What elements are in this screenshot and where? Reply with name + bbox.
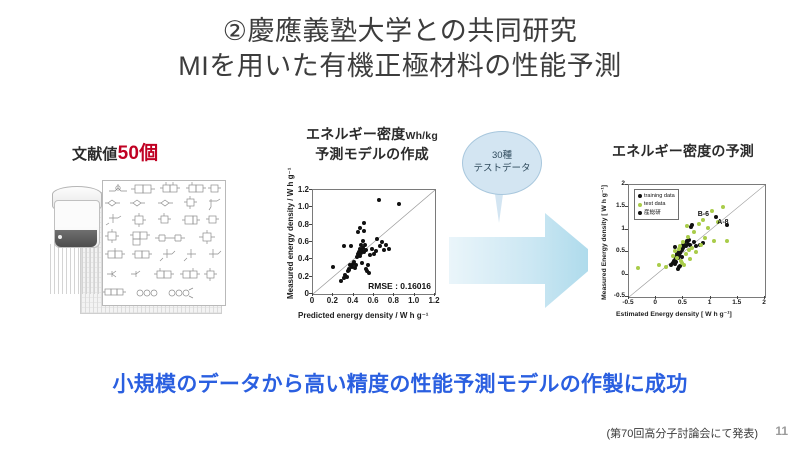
x-tick-mark (353, 293, 354, 296)
chartA-rmse-label: RMSE : 0.16016 (368, 281, 431, 291)
x-tick-mark (332, 293, 333, 296)
y-tick-mark (309, 293, 312, 294)
data-point (664, 265, 668, 269)
data-point (684, 252, 688, 256)
data-point (703, 236, 707, 240)
point-annotation: A-8 (717, 219, 728, 226)
y-tick-label: -0.5 (608, 292, 625, 299)
x-tick-mark (710, 296, 711, 299)
data-point (345, 275, 349, 279)
middle-caption-line-2: 予測モデルの作成 (282, 144, 462, 164)
data-point (686, 235, 690, 239)
molecule-structures-icon (103, 181, 225, 305)
point-annotation: B-6 (698, 211, 709, 218)
reagent-jar-icon (50, 186, 102, 294)
x-tick-mark (434, 293, 435, 296)
data-point (721, 205, 725, 209)
slide-root: ②慶應義塾大学との共同研究 MIを用いた有機正極材料の性能予測 文献値50個 (0, 0, 800, 450)
data-point (342, 244, 346, 248)
source-note: (第70回高分子討論会にて発表) (606, 425, 758, 441)
y-tick-mark (309, 258, 312, 259)
y-tick-mark (625, 251, 628, 252)
x-tick-mark (682, 296, 683, 299)
data-point (712, 239, 716, 243)
x-tick-label: 2 (757, 299, 771, 306)
legend-item-training: training data (638, 192, 675, 200)
y-tick-label: 1 (608, 225, 625, 232)
y-tick-mark (625, 274, 628, 275)
middle-caption-line-1: エネルギー密度Wh/kg (282, 124, 462, 144)
chartA-y-axis-title: Measured energy density / W h g⁻¹ (286, 168, 295, 299)
y-tick-mark (625, 296, 628, 297)
x-tick-label: 1.0 (407, 296, 421, 305)
right-panel-caption: エネルギー密度の予測 (588, 141, 778, 161)
data-point (671, 254, 675, 258)
y-tick-mark (309, 206, 312, 207)
data-point (349, 244, 353, 248)
y-tick-mark (309, 276, 312, 277)
x-tick-label: 1.2 (427, 296, 441, 305)
data-point (710, 209, 714, 213)
callout-line-1: 30種 (492, 150, 512, 163)
chartA-plot-area: RMSE : 0.16016 (312, 189, 436, 295)
data-point (362, 221, 366, 225)
chartA-x-axis-title: Predicted energy density / W h g⁻¹ (298, 311, 428, 320)
callout-bubble: 30種 テストデータ (462, 131, 542, 195)
data-point (374, 249, 378, 253)
legend-item-aist: 産総研 (638, 209, 675, 217)
data-point (382, 248, 386, 252)
y-tick-label: 1.5 (608, 202, 625, 209)
y-tick-mark (309, 224, 312, 225)
data-point (699, 243, 703, 247)
x-tick-label: -0.5 (621, 299, 635, 306)
data-point (701, 218, 705, 222)
title-line-2: MIを用いた有機正極材料の性能予測 (0, 49, 800, 84)
x-tick-mark (737, 296, 738, 299)
x-tick-mark (655, 296, 656, 299)
data-point (353, 266, 357, 270)
x-tick-label: 1.5 (730, 299, 744, 306)
legend-label-aist: 産総研 (644, 209, 661, 217)
legend-label-training: training data (644, 192, 675, 200)
left-caption-count: 50個 (118, 143, 159, 164)
data-point (685, 224, 689, 228)
chart-prediction-model: RMSE : 0.16016 00.20.40.60.81.01.2 00.20… (276, 183, 456, 331)
page-number: 11 (775, 424, 788, 438)
y-tick-label: 0.5 (608, 247, 625, 254)
conclusion-text: 小規模のデータから高い精度の性能予測モデルの作製に成功 (0, 368, 800, 398)
legend-swatch-test-icon (638, 203, 642, 207)
data-point (377, 198, 381, 202)
jar-shadow (50, 244, 102, 294)
middle-caption-unit: Wh/kg (405, 130, 438, 142)
chartB-x-axis-title: Estimated Energy density [ W h g⁻¹] (616, 310, 732, 318)
molecule-sheet-front (102, 180, 226, 306)
y-tick-mark (625, 206, 628, 207)
x-tick-mark (373, 293, 374, 296)
chartA-identity-line (313, 190, 435, 294)
x-tick-label: 0.5 (675, 299, 689, 306)
y-tick-label: 2 (608, 180, 625, 187)
left-caption-prefix: 文献値 (72, 146, 118, 163)
reagent-jar-and-molecule-sheet (48, 178, 230, 318)
title-line-1: ②慶應義塾大学との共同研究 (0, 14, 800, 49)
legend-label-test: test data (644, 200, 665, 208)
data-point (687, 248, 691, 252)
callout-line-2: テストデータ (473, 163, 530, 176)
middle-caption-main: エネルギー密度 (306, 126, 405, 142)
process-flow-arrow (449, 213, 601, 308)
data-point (347, 267, 351, 271)
data-point (364, 248, 368, 252)
left-panel-caption: 文献値50個 (72, 138, 158, 165)
x-tick-label: 0.8 (386, 296, 400, 305)
x-tick-mark (312, 293, 313, 296)
chart-energy-density-prediction: B-6A-8 training data test data 産総研 -0.50… (588, 178, 780, 328)
data-point (356, 230, 360, 234)
legend-item-test: test data (638, 200, 675, 208)
chartB-legend: training data test data 産総研 (634, 189, 679, 220)
data-point (680, 255, 684, 259)
test-data-callout: 30種 テストデータ (462, 131, 544, 223)
data-point (692, 230, 696, 234)
right-arrow-icon (449, 213, 601, 308)
legend-swatch-training-icon (638, 194, 642, 198)
x-tick-label: 0.2 (325, 296, 339, 305)
x-tick-mark (628, 296, 629, 299)
x-tick-label: 0.6 (366, 296, 380, 305)
data-point (354, 263, 358, 267)
x-tick-mark (764, 296, 765, 299)
x-tick-label: 1 (703, 299, 717, 306)
x-tick-mark (393, 293, 394, 296)
data-point (360, 261, 364, 265)
legend-swatch-aist-icon (638, 211, 642, 215)
y-tick-mark (309, 189, 312, 190)
x-tick-label: 0.4 (346, 296, 360, 305)
middle-panel-caption: エネルギー密度Wh/kg 予測モデルの作成 (282, 124, 462, 165)
y-tick-mark (309, 241, 312, 242)
chartB-y-axis-title: Measured Energy density [ W h g⁻¹] (600, 185, 608, 300)
y-tick-mark (625, 184, 628, 185)
page-title: ②慶應義塾大学との共同研究 MIを用いた有機正極材料の性能予測 (0, 14, 800, 83)
chartB-plot-area: B-6A-8 training data test data 産総研 (628, 184, 766, 298)
x-tick-mark (414, 293, 415, 296)
y-tick-label: 0 (608, 270, 625, 277)
data-point (362, 229, 366, 233)
y-tick-mark (625, 229, 628, 230)
jar-highlight (58, 235, 62, 239)
x-tick-label: 0 (648, 299, 662, 306)
